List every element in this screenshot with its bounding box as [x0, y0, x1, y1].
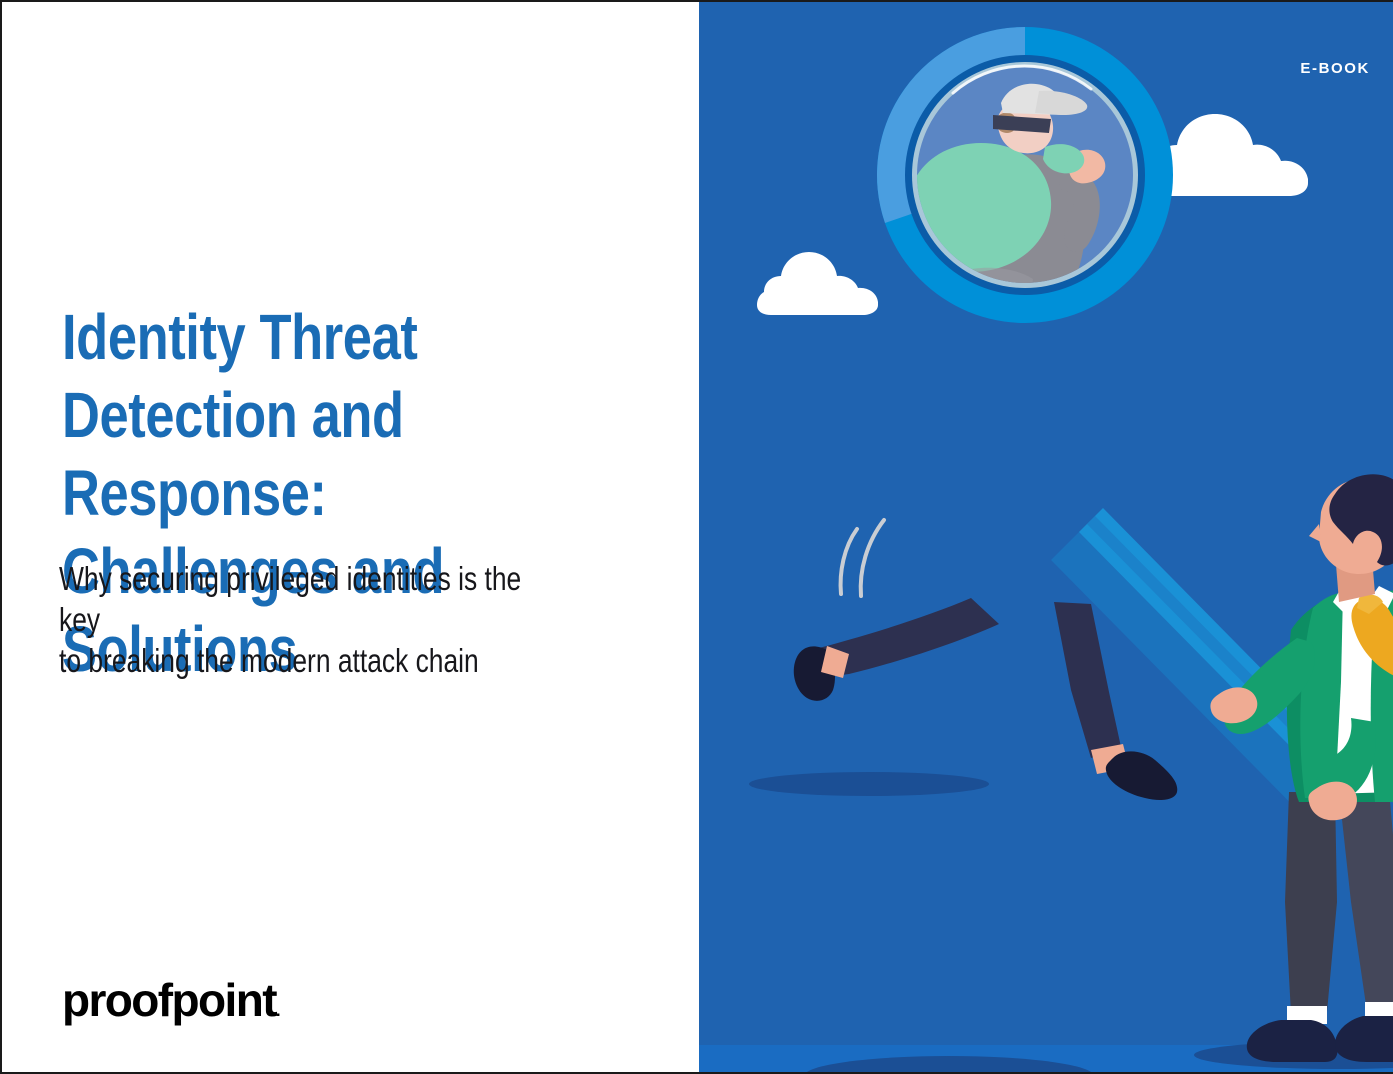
- cover-artwork-panel: E-BOOK: [699, 2, 1393, 1072]
- shoe-left: [1247, 1020, 1338, 1062]
- magnifier: [877, 27, 1173, 323]
- shoe-right: [1335, 1016, 1393, 1062]
- ebook-cover: E-BOOK Identity Threat Detection and Res…: [0, 0, 1393, 1074]
- logo-mark: .: [276, 1001, 281, 1020]
- page-subtitle: Why securing privileged identities is th…: [59, 558, 555, 681]
- cover-text-panel: Identity Threat Detection and Response: …: [2, 2, 699, 1072]
- cloud-small-icon: [757, 252, 878, 315]
- thief-shadow: [749, 772, 989, 796]
- proofpoint-logo: proofpoint.: [62, 977, 281, 1034]
- investigator-figure: [1210, 474, 1393, 1062]
- cover-illustration: [699, 2, 1393, 1072]
- ebook-badge: E-BOOK: [1300, 60, 1370, 77]
- speed-lines-icon: [841, 520, 884, 596]
- logo-wordmark: proofpoint: [62, 974, 276, 1026]
